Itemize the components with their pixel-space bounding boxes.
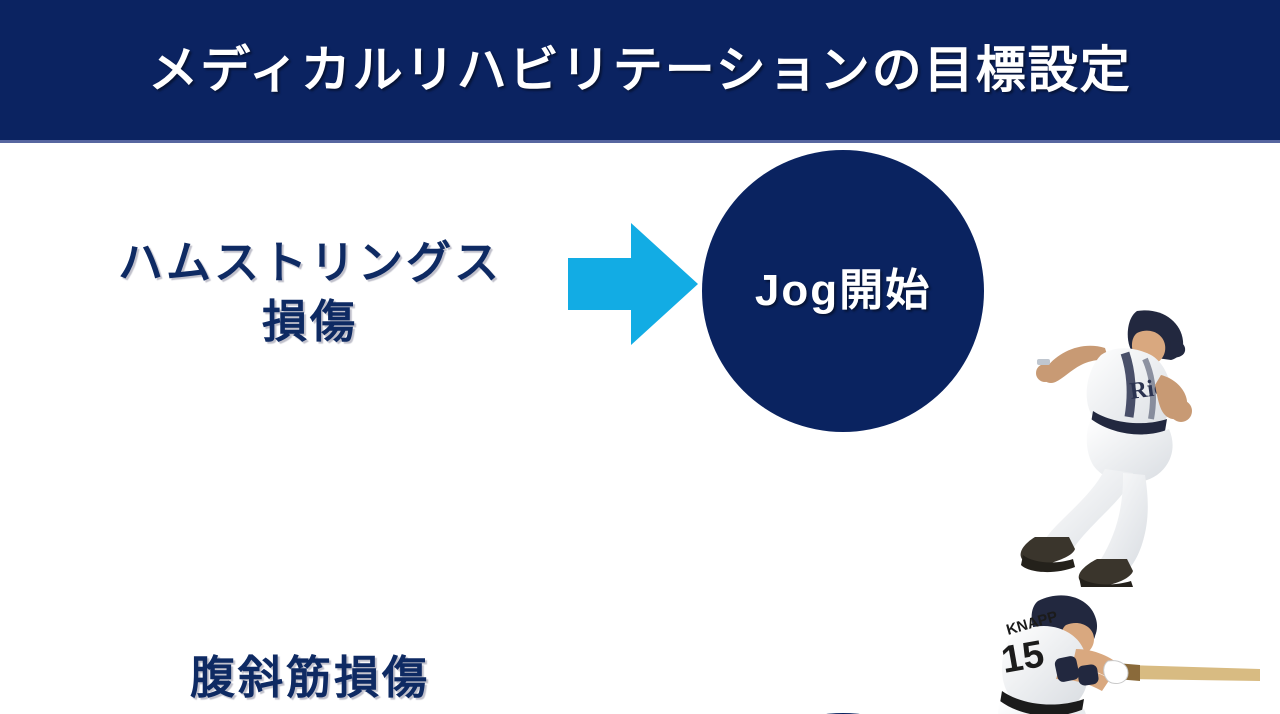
baseball-batter-photo: KNAPP 15 [930,573,1280,714]
svg-text:15: 15 [998,633,1047,682]
flow-row: ハムストリングス 損傷 Jog開始 [0,143,1010,428]
page-title: メディカルリハビリテーションの目標設定 [128,43,1152,98]
injury-label-line: 損傷 [60,292,560,351]
title-banner: メディカルリハビリテーションの目標設定 [0,0,1280,140]
injury-label-line: ハムストリングス [60,233,560,292]
goal-label: Jog開始 [741,261,945,322]
slide-canvas: メディカルリハビリテーションの目標設定 ハムストリングス 損傷 Jog開始 [0,0,1280,714]
goal-circle: Jog開始 [702,150,984,432]
injury-label-line: 腹斜筋損傷 [60,648,560,707]
right-arrow-icon [568,223,698,345]
slide-body: ハムストリングス 損傷 Jog開始 腹斜筋損傷 [0,143,1280,714]
flow-row: 腹斜筋損傷 スイング 開始 [0,428,1010,713]
injury-label: 腹斜筋損傷 [60,648,560,707]
goal-label-line: Jog開始 [755,261,931,322]
baseball-runner-photo: Ric [985,293,1280,588]
injury-label: ハムストリングス 損傷 [60,233,560,352]
